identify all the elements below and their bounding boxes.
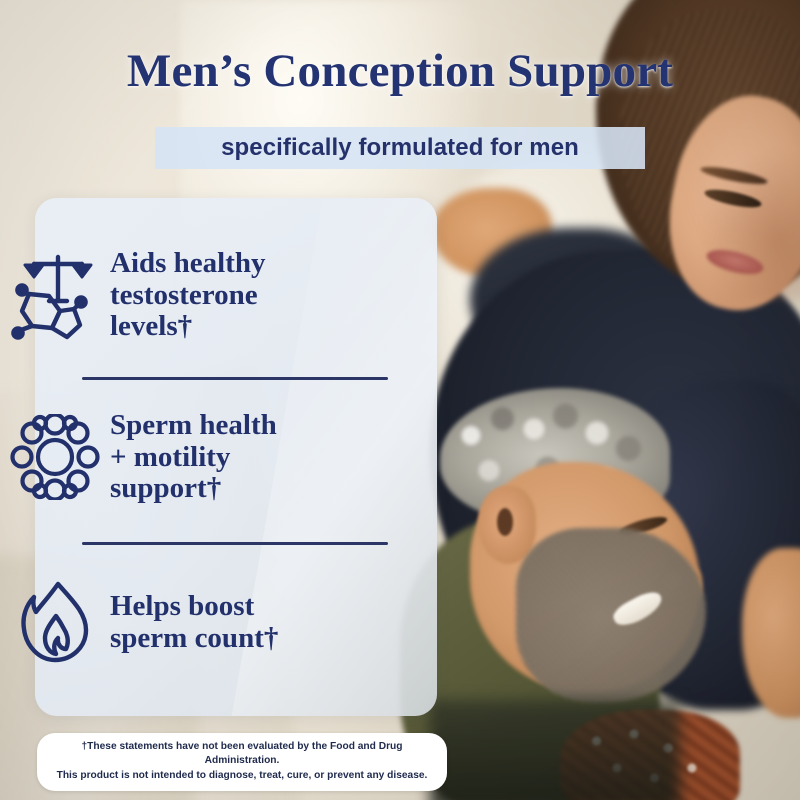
benefit-item: Helps boost sperm count† xyxy=(0,580,402,666)
subtitle-text: specifically formulated for men xyxy=(221,134,579,162)
product-infographic: Men’s Conception Support specifically fo… xyxy=(0,0,800,800)
cell-cluster-icon xyxy=(0,414,110,500)
disclaimer-line-2: This product is not intended to diagnose… xyxy=(51,769,433,783)
benefit-label: Aids healthy testosterone levels† xyxy=(110,248,266,343)
subtitle-banner: specifically formulated for men xyxy=(155,127,645,169)
benefit-label: Helps boost sperm count† xyxy=(110,591,278,654)
scale-molecule-icon xyxy=(0,249,110,341)
fda-disclaimer: †These statements have not been evaluate… xyxy=(37,733,447,791)
benefit-item: Aids healthy testosterone levels† xyxy=(0,248,402,343)
benefit-label: Sperm health + motility support† xyxy=(110,410,277,505)
disclaimer-line-1: †These statements have not been evaluate… xyxy=(51,740,433,769)
benefit-divider xyxy=(82,377,388,380)
flame-icon xyxy=(0,580,110,666)
benefit-divider xyxy=(82,542,388,545)
page-title: Men’s Conception Support xyxy=(0,44,800,98)
benefit-item: Sperm health + motility support† xyxy=(0,410,402,505)
